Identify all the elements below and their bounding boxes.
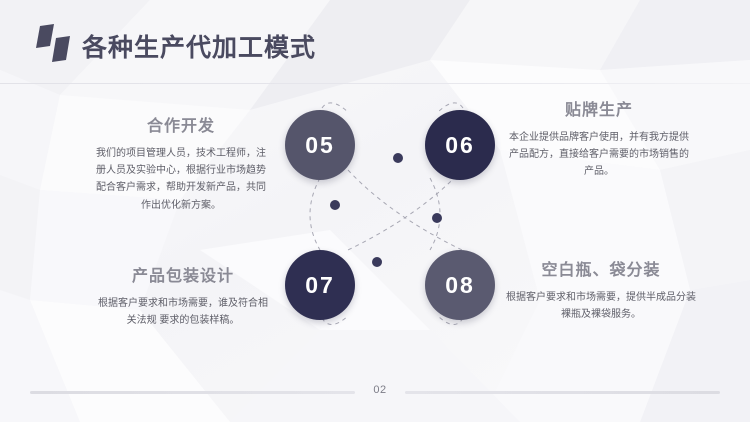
- node-05[interactable]: 05: [285, 110, 355, 180]
- node-07[interactable]: 07: [285, 250, 355, 320]
- block-body-top-left: 我们的项目管理人员，技术工程师，注册人员及实验中心，根据行业市场趋势配合客户需求…: [96, 145, 266, 214]
- block-body-bottom-left: 根据客户要求和市场需要，谁及符合相关法规 要求的包装样稿。: [96, 295, 270, 329]
- content-block-top-right: 贴牌生产 本企业提供品牌客户使用，并有我方提供产品配方，直接给客户需要的市场销售…: [508, 96, 690, 181]
- page-title: 各种生产代加工模式: [82, 28, 316, 64]
- slide-canvas: 各种生产代加工模式 05 06 07 08 合作开发 我们的项目管理人员，技术工…: [0, 0, 750, 422]
- block-body-bottom-right: 根据客户要求和市场需要，提供半成品分装裸瓶及裸袋服务。: [506, 289, 696, 323]
- page-number: 02: [355, 384, 405, 396]
- slide-header: 各种生产代加工模式: [0, 0, 750, 84]
- block-heading-top-right: 贴牌生产: [508, 96, 690, 120]
- block-heading-bottom-right: 空白瓶、袋分装: [506, 256, 696, 280]
- node-06[interactable]: 06: [425, 110, 495, 180]
- node-08[interactable]: 08: [425, 250, 495, 320]
- content-block-bottom-right: 空白瓶、袋分装 根据客户要求和市场需要，提供半成品分装裸瓶及裸袋服务。: [506, 256, 696, 323]
- block-heading-top-left: 合作开发: [96, 112, 266, 136]
- content-block-bottom-left: 产品包装设计 根据客户要求和市场需要，谁及符合相关法规 要求的包装样稿。: [96, 262, 270, 329]
- content-block-top-left: 合作开发 我们的项目管理人员，技术工程师，注册人员及实验中心，根据行业市场趋势配…: [96, 112, 266, 214]
- block-heading-bottom-left: 产品包装设计: [96, 262, 270, 286]
- footer-rule-right: [405, 391, 720, 394]
- footer-rule-left: [30, 391, 355, 394]
- block-body-top-right: 本企业提供品牌客户使用，并有我方提供产品配方，直接给客户需要的市场销售的产品。: [508, 129, 690, 181]
- header-divider: [0, 83, 750, 84]
- double-slash-logo-icon: [32, 24, 76, 62]
